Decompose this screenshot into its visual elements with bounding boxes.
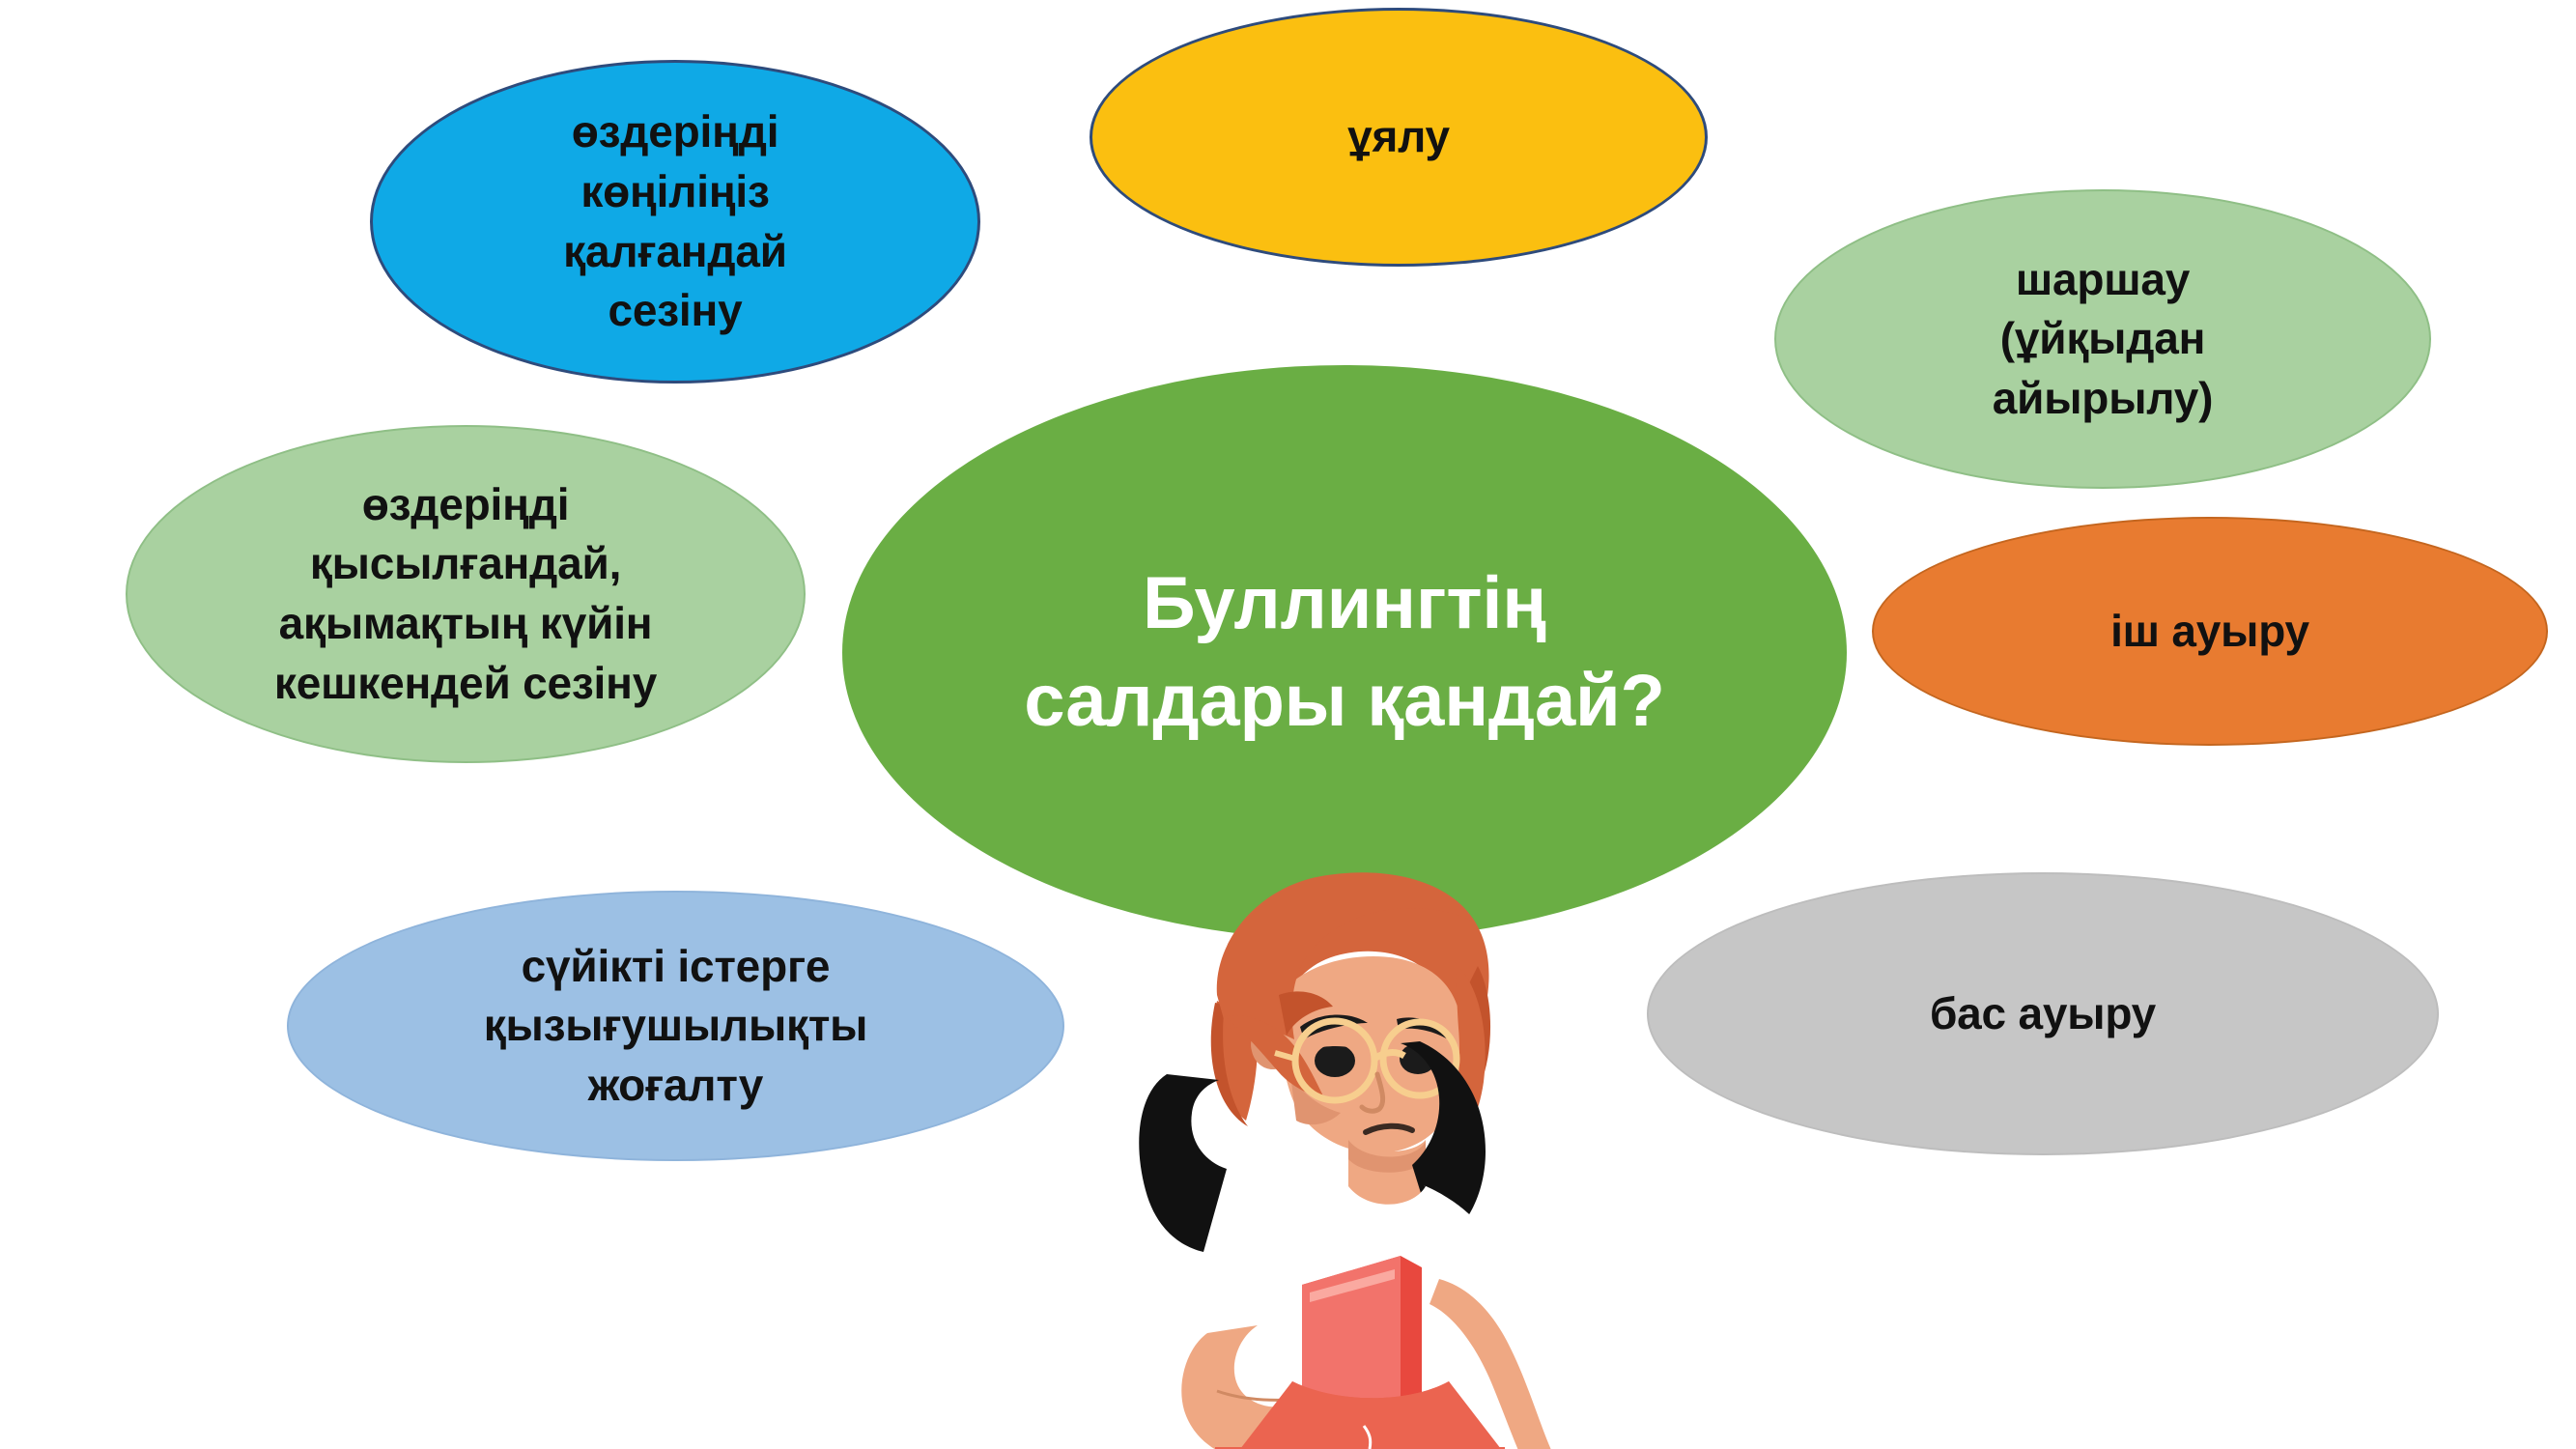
- bubble-feel-foolish[interactable]: өздеріңді қысылғандай, ақымақтың күйін к…: [126, 425, 806, 763]
- bubble-shame-label: ұялу: [1135, 107, 1661, 167]
- bubble-loss-of-interest-label: сүйікті істерге қызығушылықты жоғалту: [343, 937, 1008, 1116]
- bubble-headache-label: бас ауыру: [1704, 984, 2382, 1044]
- center-bubble-label: Буллингтің салдары қандай?: [913, 555, 1776, 750]
- bubble-loss-of-interest[interactable]: сүйікті істерге қызығушылықты жоғалту: [287, 891, 1064, 1161]
- bubble-feel-foolish-label: өздеріңді қысылғандай, ақымақтың күйін к…: [155, 475, 777, 714]
- bubble-self-upset-label: өздеріңді көңіліңіз қалғандай сезіну: [415, 102, 935, 341]
- bubble-shame[interactable]: ұялу: [1090, 8, 1708, 267]
- bubble-stomach-ache[interactable]: іш ауыру: [1872, 517, 2548, 746]
- bubble-fatigue[interactable]: шаршау (ұйқыдан айырылу): [1774, 189, 2431, 489]
- bubble-headache[interactable]: бас ауыру: [1647, 872, 2439, 1155]
- bubble-stomach-ache-label: іш ауыру: [1921, 602, 2500, 662]
- diagram-canvas: өздеріңді көңіліңіз қалғандай сезіну ұял…: [0, 0, 2576, 1449]
- sad-schoolgirl-illustration: [1111, 850, 1710, 1449]
- bubble-self-upset[interactable]: өздеріңді көңіліңіз қалғандай сезіну: [370, 60, 980, 384]
- bubble-fatigue-label: шаршау (ұйқыдан айырылу): [1822, 250, 2383, 429]
